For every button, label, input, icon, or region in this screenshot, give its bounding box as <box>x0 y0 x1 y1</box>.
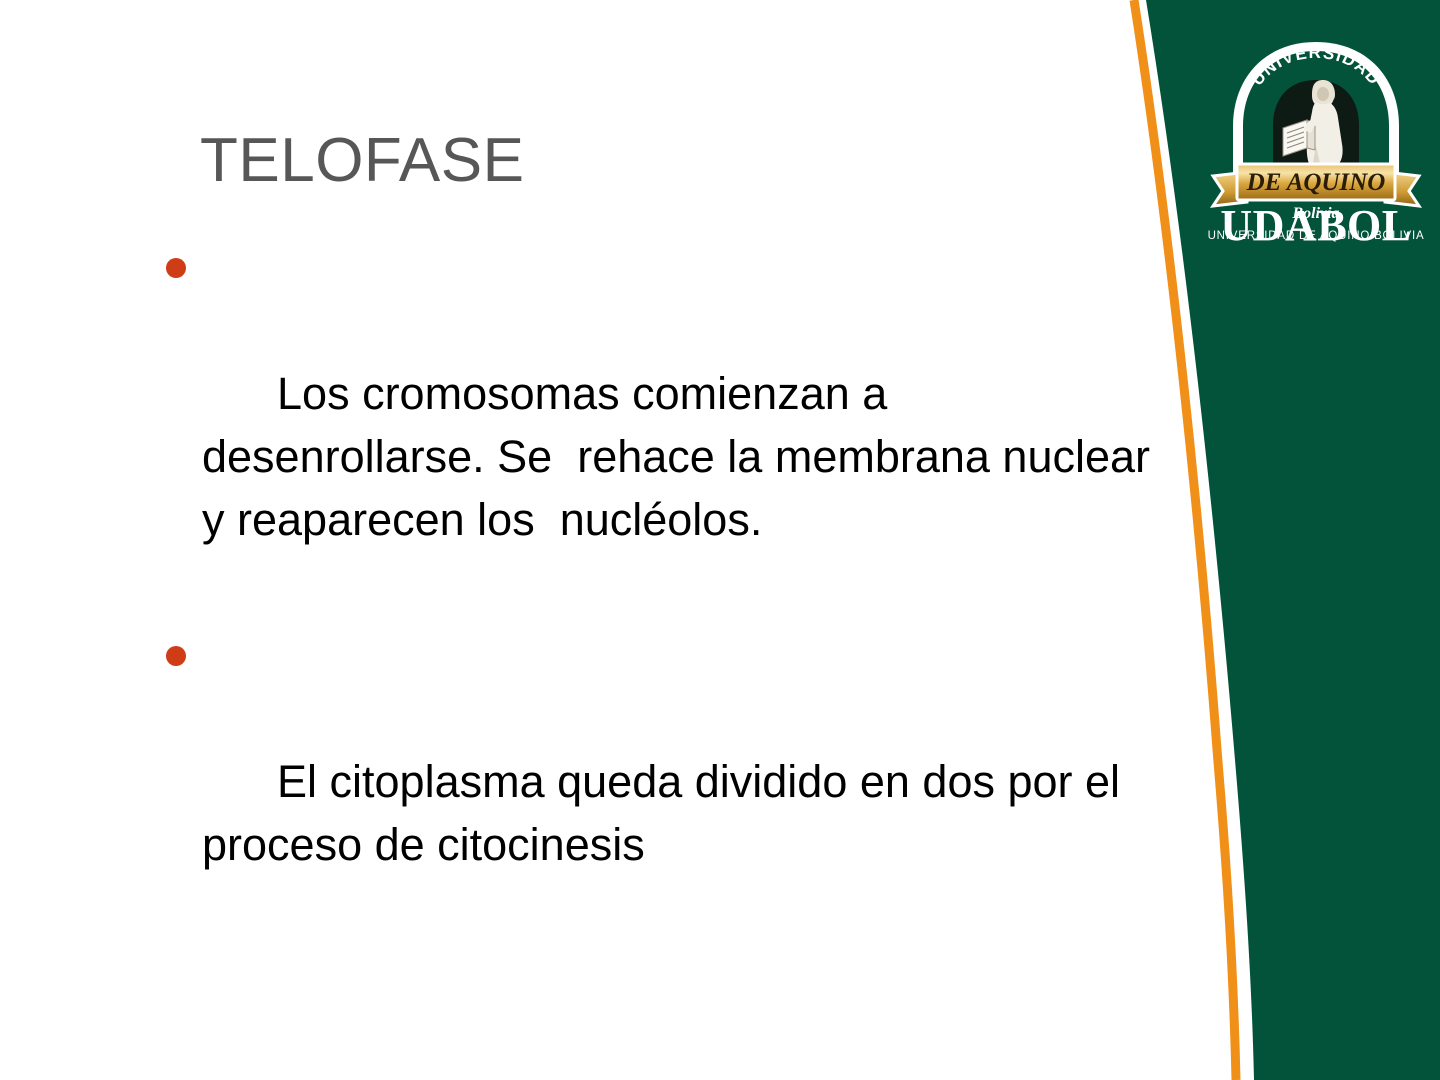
bullet-item: Los cromosomas comienzan a desenrollarse… <box>150 236 1150 614</box>
bullet-item: El citoplasma queda dividido en dos por … <box>150 624 1150 939</box>
bullet-text: El citoplasma queda dividido en dos por … <box>202 756 1145 870</box>
udabol-logo: UNIVERSIDAD <box>1203 34 1429 246</box>
logo-tagline: UNIVERSIDAD DE AQUINO BOLIVIA <box>1203 230 1429 242</box>
udabol-logo-graphic: UNIVERSIDAD <box>1203 34 1429 246</box>
banner-label: DE AQUINO <box>1246 169 1386 196</box>
bullet-dot-icon <box>166 258 186 278</box>
bullet-dot-icon <box>166 646 186 666</box>
slide-title: TELOFASE <box>200 128 1080 193</box>
slide-body: Los cromosomas comienzan a desenrollarse… <box>150 236 1150 949</box>
slide: UNIVERSIDAD <box>0 0 1440 1080</box>
bullet-text: Los cromosomas comienzan a desenrollarse… <box>202 368 1163 545</box>
